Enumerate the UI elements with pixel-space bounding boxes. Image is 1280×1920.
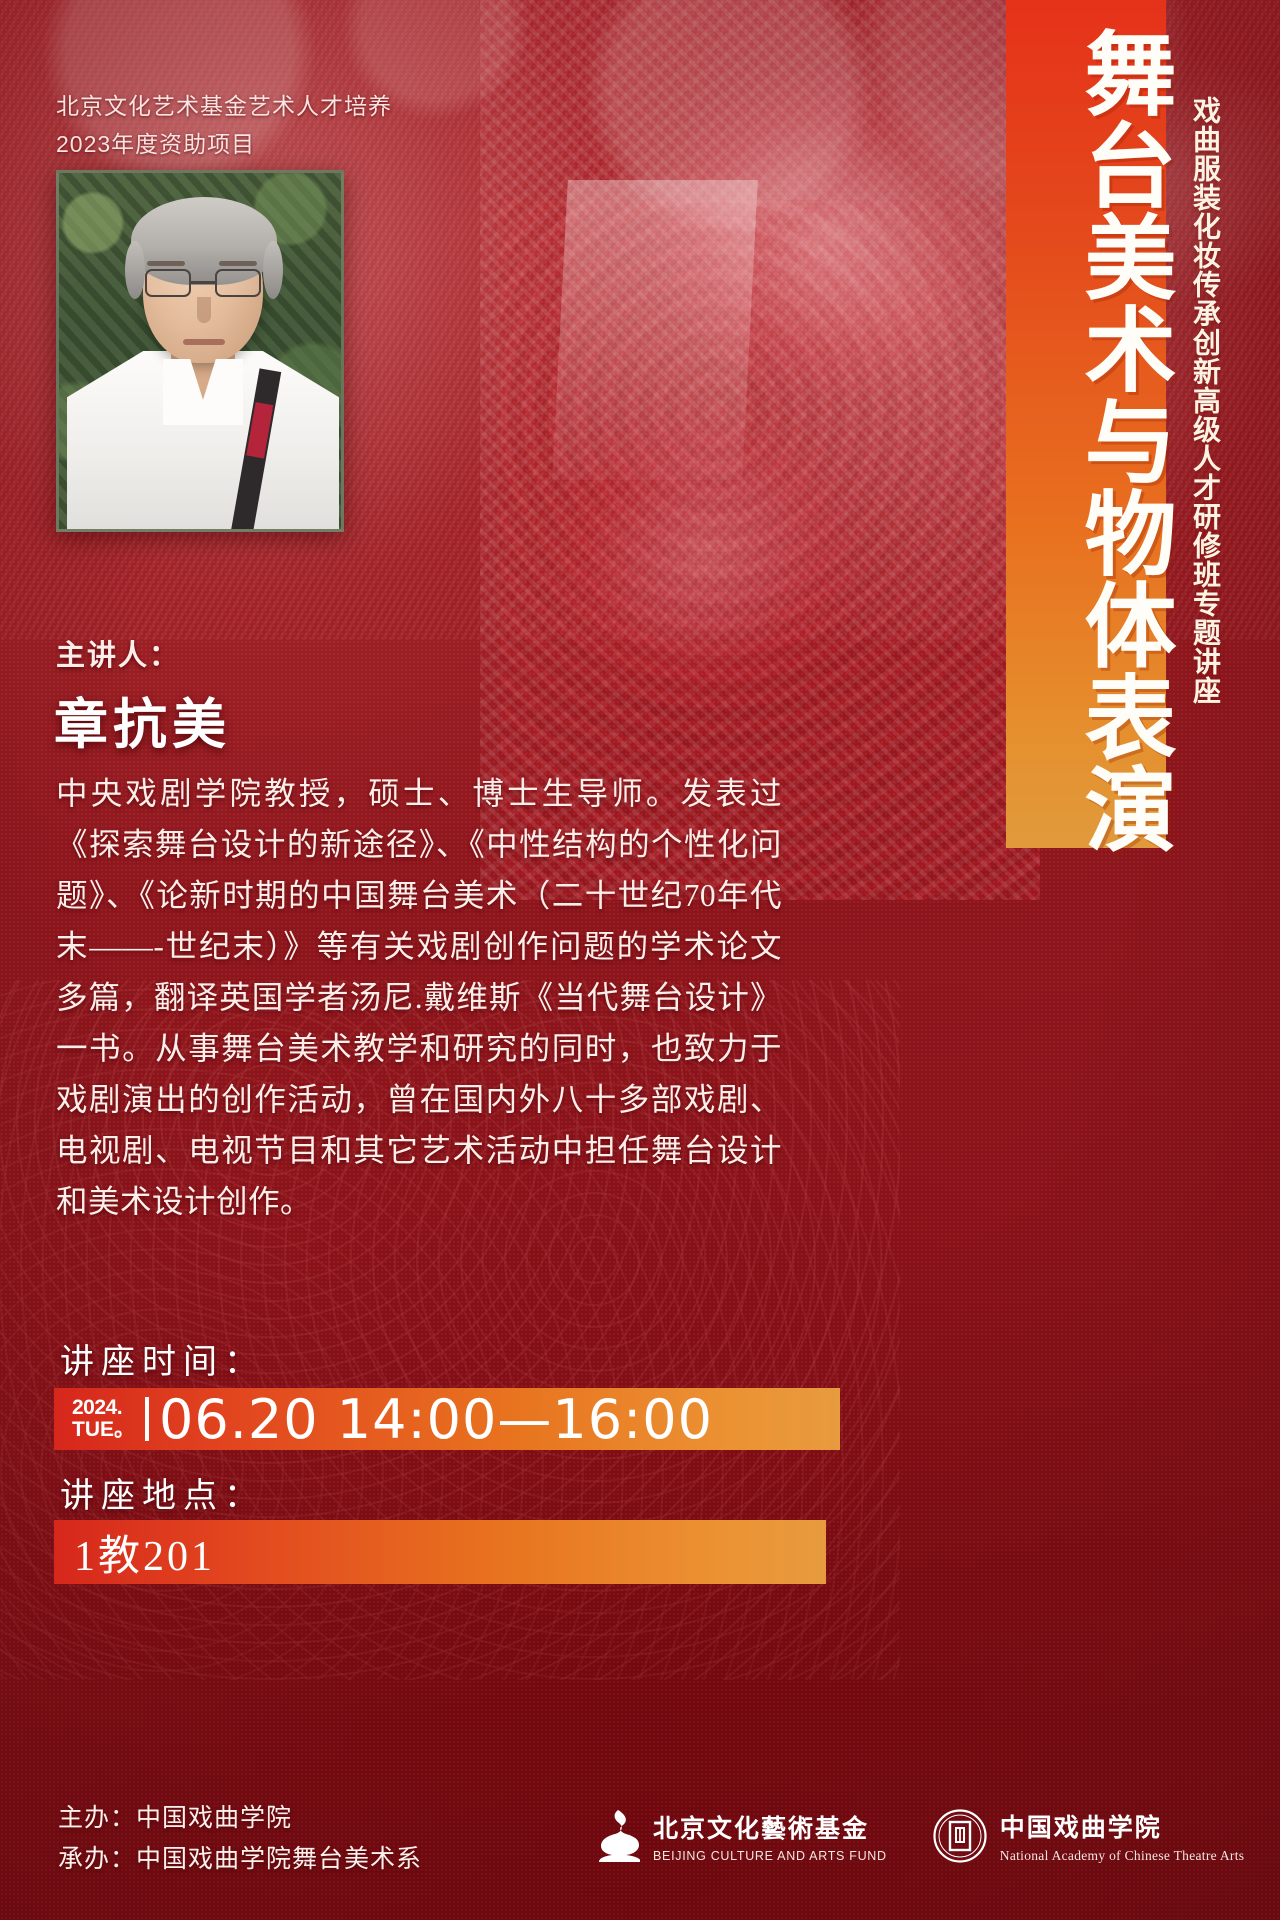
speaker-label: 主讲人：	[56, 632, 180, 674]
lecture-time-bar: 2024. TUE。 06.20 14:00—16:00	[54, 1388, 840, 1450]
lecture-place-bar: 1教201	[54, 1520, 826, 1584]
lecture-subtitle: 戏曲服装化妆传承创新高级人才研修班专题讲座	[1176, 96, 1222, 705]
logo-name-cn: 北京文化藝術基金	[653, 1809, 887, 1845]
lecture-time-value: 06.20 14:00—16:00	[159, 1388, 713, 1451]
lecture-place-value: 1教201	[54, 1522, 215, 1583]
portrait-eyebrow-right	[219, 261, 257, 266]
lecture-date-stack: 2024. TUE。	[54, 1397, 141, 1441]
footer-host: 主办：中国戏曲学院	[58, 1798, 422, 1839]
footer-logos: 北京文化藝術基金 BEIJING CULTURE AND ARTS FUND 中…	[588, 1808, 1244, 1864]
program-header-line1: 北京文化艺术基金艺术人才培养	[56, 88, 392, 126]
footer-organizer: 承办：中国戏曲学院舞台美术系	[58, 1839, 422, 1880]
portrait-glasses	[145, 269, 261, 297]
lecture-time-heading: 讲座时间：	[60, 1334, 265, 1383]
logo-text-block: 中国戏曲学院 National Academy of Chinese Theat…	[1000, 1808, 1245, 1864]
logo-name-en: National Academy of Chinese Theatre Arts	[1000, 1848, 1245, 1864]
program-header: 北京文化艺术基金艺术人才培养 2023年度资助项目	[56, 88, 392, 164]
speaker-bio: 中央戏剧学院教授，硕士、博士生导师。发表过《探索舞台设计的新途径》、《中性结构的…	[56, 768, 782, 1227]
portrait-nose	[197, 297, 211, 323]
lecture-main-title: 舞台美术与物体表演	[1056, 26, 1166, 854]
logo-national-academy-chinese-theatre-arts: 中国戏曲学院 National Academy of Chinese Theat…	[933, 1808, 1245, 1864]
logo-text-block: 北京文化藝術基金 BEIJING CULTURE AND ARTS FUND	[653, 1809, 887, 1863]
program-header-line2: 2023年度资助项目	[56, 126, 392, 164]
lecture-place-heading: 讲座地点：	[60, 1468, 265, 1517]
lecture-weekday: TUE。	[72, 1419, 135, 1441]
seal-icon	[933, 1809, 987, 1863]
ribbon-icon	[588, 1808, 640, 1864]
lecture-year: 2024.	[72, 1397, 135, 1419]
speaker-portrait-photo	[56, 170, 344, 532]
footer-organizations: 主办：中国戏曲学院 承办：中国戏曲学院舞台美术系	[58, 1798, 422, 1879]
time-divider	[145, 1397, 149, 1441]
portrait-mouth	[183, 339, 225, 345]
portrait-eyebrow-left	[147, 261, 185, 266]
logo-name-cn: 中国戏曲学院	[1000, 1808, 1245, 1844]
speaker-name: 章抗美	[54, 680, 231, 759]
poster: 北京文化艺术基金艺术人才培养 2023年度资助项目 主讲人： 章抗美 中央戏剧学…	[0, 0, 1280, 1920]
logo-name-en: BEIJING CULTURE AND ARTS FUND	[653, 1849, 887, 1863]
logo-beijing-culture-arts-fund: 北京文化藝術基金 BEIJING CULTURE AND ARTS FUND	[588, 1808, 887, 1864]
